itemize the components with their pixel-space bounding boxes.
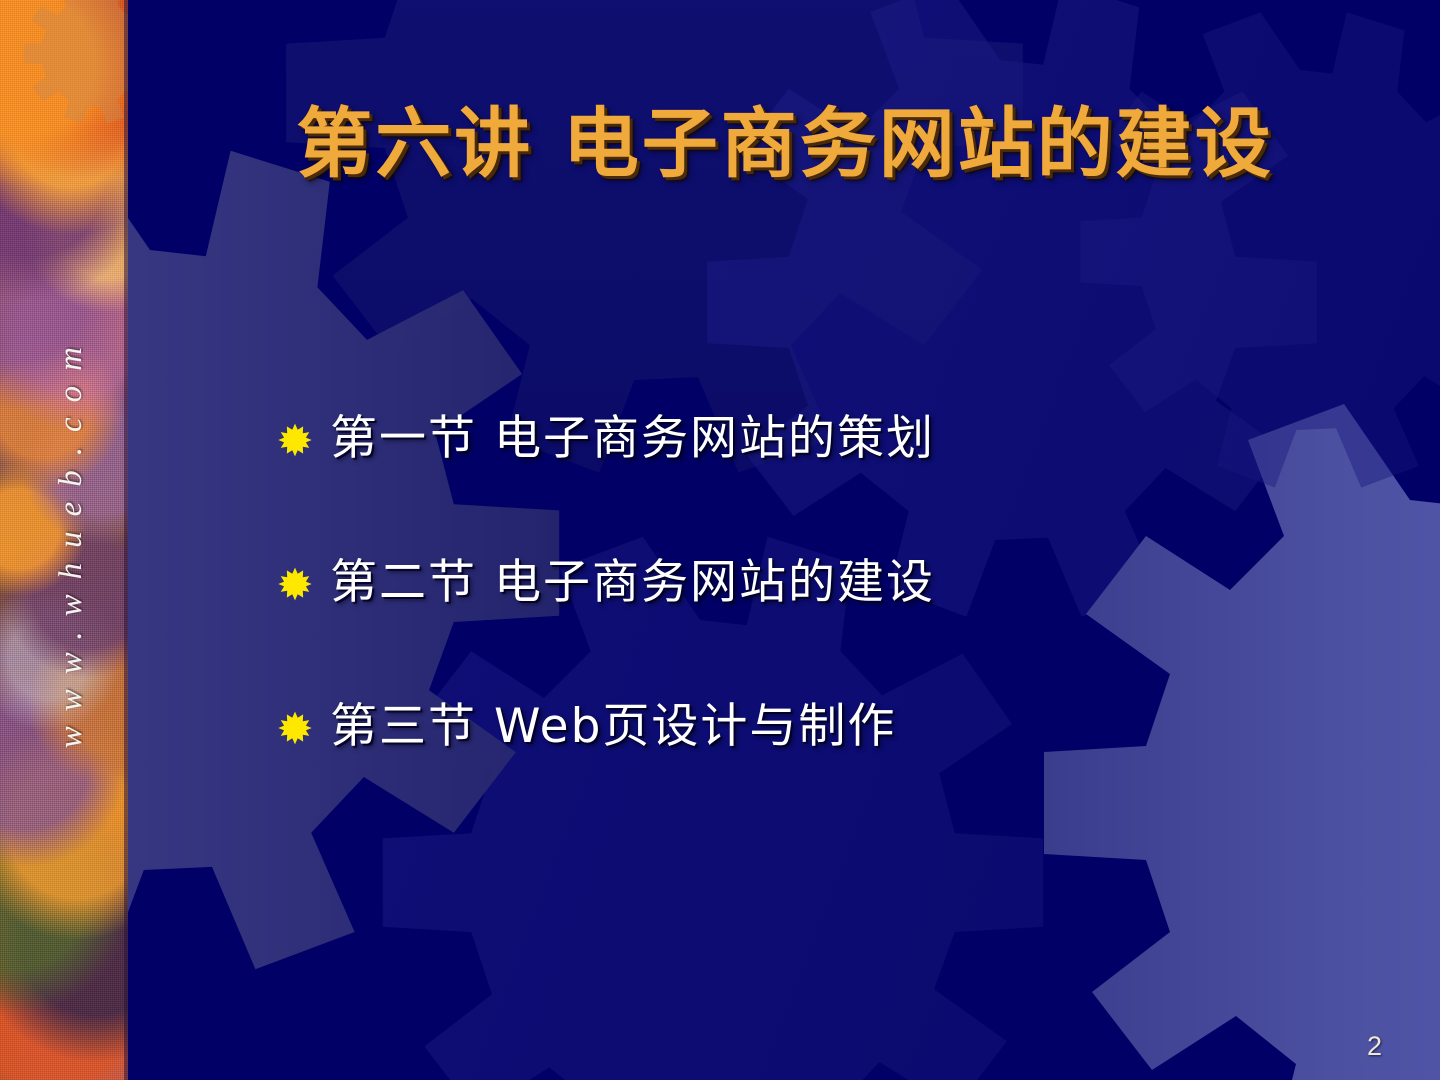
list-item-label: 第三节 Web页设计与制作: [330, 703, 896, 750]
list-item[interactable]: 第二节 电子商务网站的建设: [278, 546, 1358, 618]
sunburst-bullet-icon: [278, 711, 312, 745]
presentation-slide: www.whueb.com 第六讲 电子商务网站的建设 第一节 电子商务网站的策…: [0, 0, 1440, 1080]
sidebar-website-url: www.whueb.com: [0, 0, 128, 1080]
sunburst-bullet-icon: [278, 567, 312, 601]
slide-title-text: 第六讲 电子商务网站的建设: [296, 104, 1273, 184]
left-sidebar-strip: www.whueb.com: [0, 0, 128, 1080]
list-item-label: 第一节 电子商务网站的策划: [330, 415, 935, 462]
page-number: 2: [1367, 1031, 1382, 1062]
agenda-list: 第一节 电子商务网站的策划 第二节 电子商务网站的建设 第三节 Web页设计与制…: [278, 402, 1358, 762]
slide-title: 第六讲 电子商务网站的建设: [150, 104, 1420, 184]
list-item-label: 第二节 电子商务网站的建设: [330, 559, 935, 606]
list-item[interactable]: 第三节 Web页设计与制作: [278, 690, 1358, 762]
list-item[interactable]: 第一节 电子商务网站的策划: [278, 402, 1358, 474]
sunburst-bullet-icon: [278, 423, 312, 457]
sidebar-url-text: www.whueb.com: [53, 332, 90, 748]
